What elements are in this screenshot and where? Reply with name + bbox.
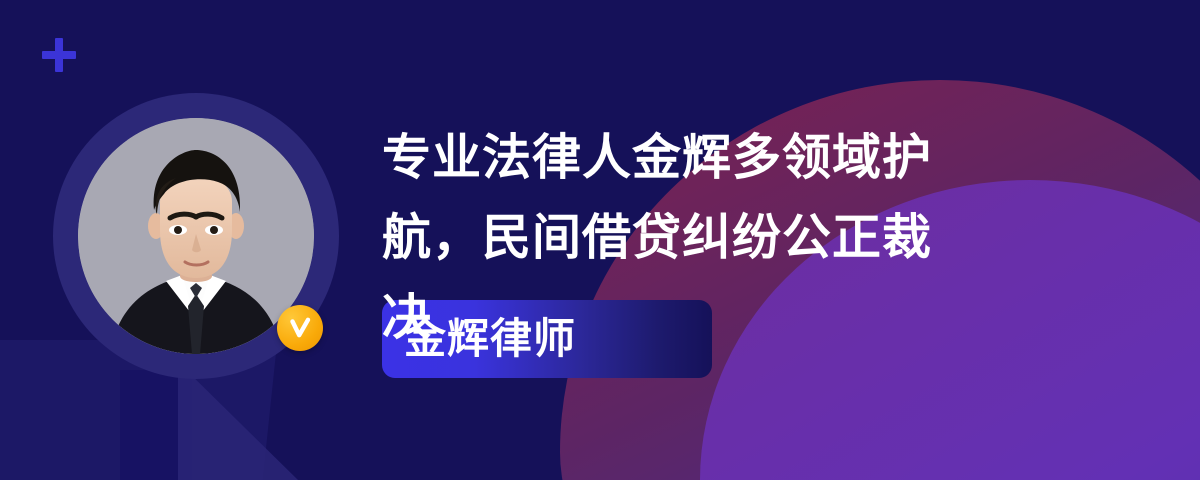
- headline-block: 专业法律人金辉多领域护 航，民间借贷纠纷公正裁: [382, 118, 1082, 278]
- avatar[interactable]: [53, 93, 339, 379]
- verified-badge: [277, 305, 323, 351]
- headline-line-2: 航，民间借贷纠纷公正裁: [382, 198, 1082, 278]
- check-v-icon: [287, 315, 313, 341]
- headline-line-1: 专业法律人金辉多领域护: [382, 118, 1082, 198]
- plus-icon: [42, 38, 76, 72]
- lawyer-profile-banner: 金辉律师 专业法律人金辉多领域护 航，民间借贷纠纷公正裁 决: [0, 0, 1200, 480]
- decorative-bottom-left-triangle: [178, 362, 298, 480]
- headline-line-3: 决: [382, 278, 432, 358]
